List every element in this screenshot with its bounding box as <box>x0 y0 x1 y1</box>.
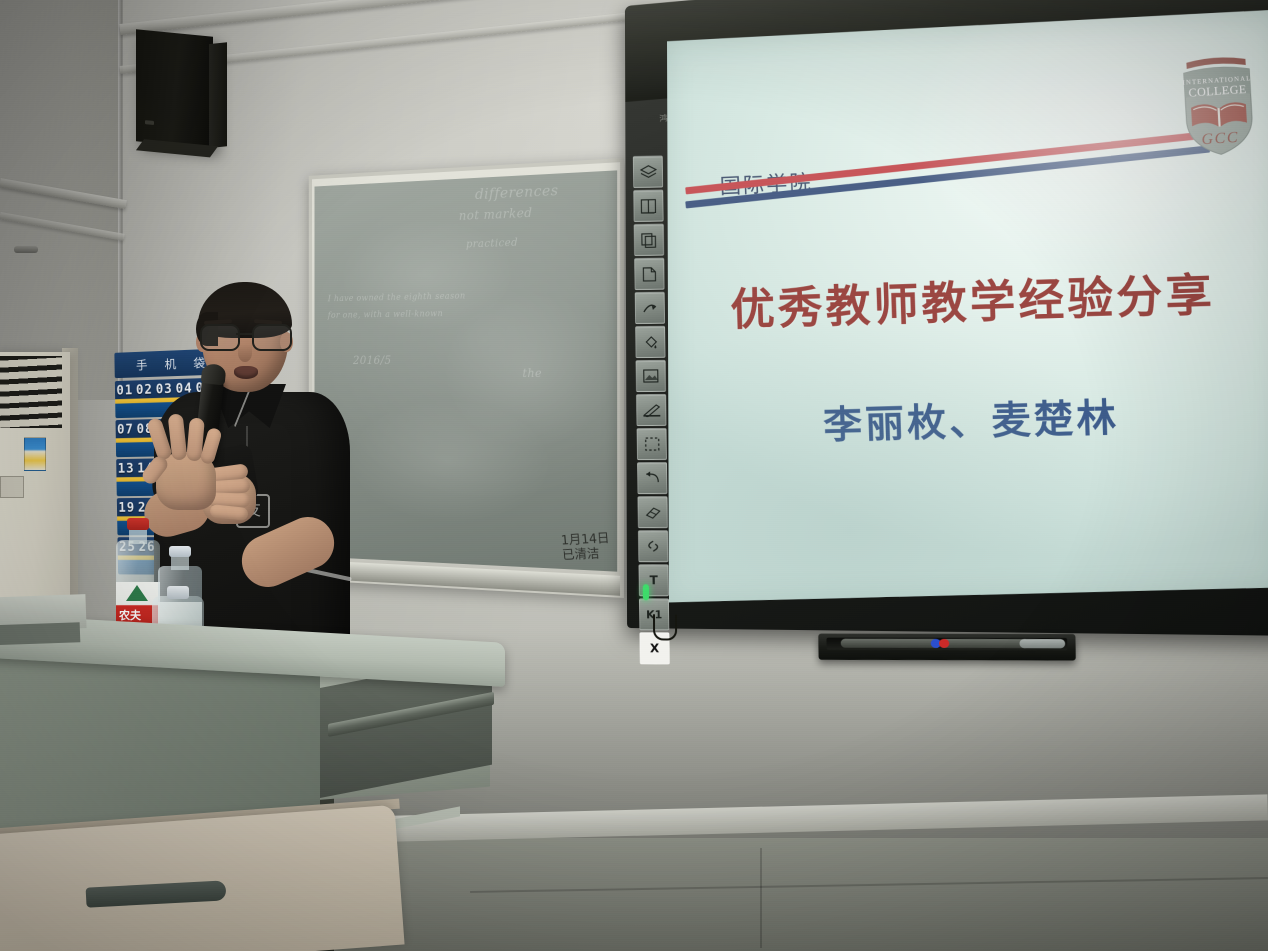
mountain-logo-icon <box>126 585 148 601</box>
projection-screen[interactable]: 国际学院 INTERNATIONAL COLLEGE <box>667 10 1268 603</box>
slide-canvas: 国际学院 INTERNATIONAL COLLEGE <box>667 31 1268 603</box>
glasses-lens-left <box>200 324 240 351</box>
window-split-icon[interactable] <box>633 189 663 222</box>
pocket-number: 07 <box>117 423 134 438</box>
bottle-cap <box>169 546 191 557</box>
chalk-trace: practiced <box>466 236 518 250</box>
pen-nib-icon[interactable] <box>636 394 666 426</box>
iwb-cable <box>653 614 677 640</box>
image-frame-icon[interactable] <box>636 360 666 392</box>
bottle-cap <box>127 518 149 530</box>
layers-icon[interactable] <box>633 155 663 188</box>
text-tool-glyph: T <box>649 573 657 587</box>
note-line-date: 1月14日 <box>561 531 611 548</box>
energy-label <box>24 437 46 471</box>
pocket-number: 13 <box>118 462 135 477</box>
wall-speaker <box>136 29 213 148</box>
iwb-power-led-icon <box>643 584 649 600</box>
slide-header: 国际学院 INTERNATIONAL COLLEGE <box>667 31 1268 222</box>
speaker-led-icon <box>145 120 154 125</box>
whiteboard-cleaning-note: 1月14日 已清洁 <box>561 531 612 563</box>
chalk-trace: the <box>522 366 542 380</box>
new-page-icon[interactable] <box>634 258 664 291</box>
glasses-lens-right <box>252 324 292 351</box>
link-chain-icon[interactable] <box>638 530 668 562</box>
svg-text:GCC: GCC <box>1201 129 1240 148</box>
chalk-trace: differences <box>475 181 558 203</box>
bottle-cap <box>167 586 189 599</box>
slide-stripe-red <box>685 131 1210 195</box>
ac-control-panel[interactable] <box>0 476 24 498</box>
chalk-smudge <box>348 398 552 527</box>
grey-eraser-tool[interactable] <box>1019 639 1065 648</box>
classroom-photo-scene: differences not marked practiced I have … <box>0 0 1268 951</box>
floor-seam <box>760 848 762 948</box>
fill-bucket-icon[interactable] <box>635 326 665 358</box>
presenter-mouth <box>234 366 258 379</box>
note-line-status: 已清洁 <box>562 546 612 563</box>
ac-vent-louvers-icon <box>0 356 62 428</box>
presenter-nose <box>238 344 252 362</box>
undo-arrow-icon[interactable] <box>637 462 667 494</box>
copy-page-icon[interactable] <box>634 224 664 257</box>
glasses-bridge <box>236 333 254 335</box>
speaker-front-face <box>209 42 227 148</box>
curve-arrow-icon[interactable] <box>635 292 665 324</box>
pocket-number: 19 <box>118 501 135 516</box>
slide-title: 优秀教师教学经验分享 <box>667 256 1268 341</box>
chalk-trace: not marked <box>459 206 533 224</box>
pocket-number: 01 <box>116 383 133 398</box>
red-stylus-nib-icon <box>939 639 949 648</box>
gcc-college-logo: INTERNATIONAL COLLEGE GCC <box>1176 52 1262 160</box>
slide-presenter-names: 李丽枚、麦楚林 <box>668 382 1268 454</box>
blue-stylus-pen[interactable] <box>841 639 939 648</box>
floor-seam <box>470 877 1268 893</box>
side-desk-front <box>0 622 80 645</box>
interactive-whiteboard[interactable]: 鸿合HiteVision 国际学院 INTERNATION <box>625 0 1268 636</box>
red-stylus-pen[interactable] <box>941 639 1030 648</box>
close-glyph: X <box>650 641 659 655</box>
iwb-pen-tray[interactable] <box>818 634 1076 661</box>
presenter-hand-left-open <box>146 416 228 512</box>
eraser-icon[interactable] <box>638 496 668 528</box>
select-dashed-icon[interactable] <box>637 428 667 460</box>
